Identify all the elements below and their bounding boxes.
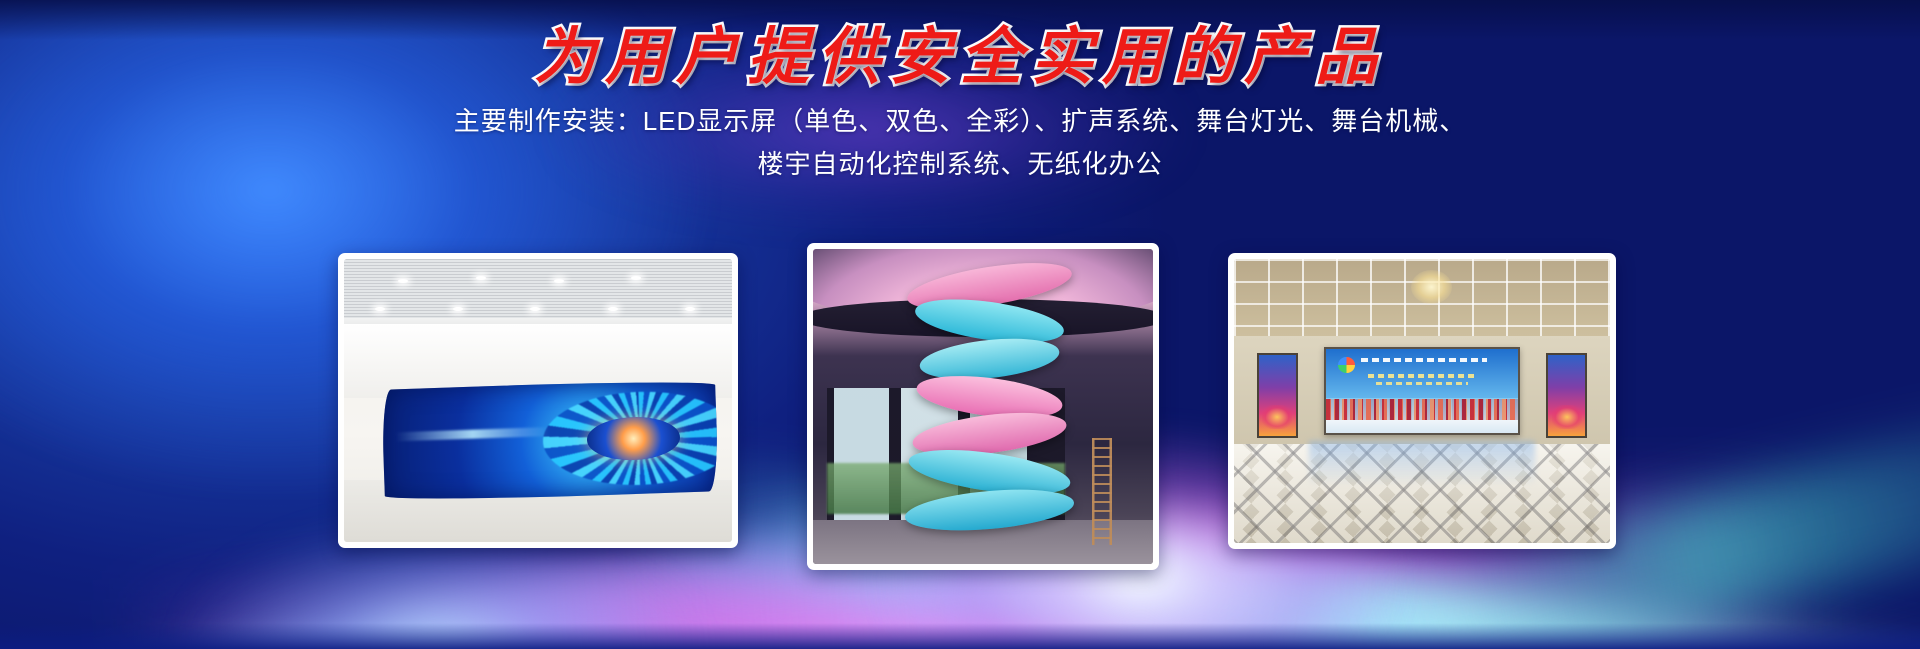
spiral-screen: [908, 262, 1071, 552]
page-title: 为用户提供安全实用的产品: [534, 24, 1386, 89]
photo-gallery: [0, 0, 1920, 649]
eye-shaped-screen: [381, 378, 718, 503]
ceiling-spot-light: [453, 307, 463, 311]
photo-card-eye-display[interactable]: [338, 253, 738, 548]
photo-frame: [344, 259, 732, 542]
ceiling-spot-light: [554, 279, 564, 283]
led-promo-banner: 为用户提供安全实用的产品 主要制作安装：LED显示屏（单色、双色、全彩）、扩声系…: [0, 0, 1920, 649]
subtitle-block: 主要制作安装：LED显示屏（单色、双色、全彩）、扩声系统、舞台灯光、舞台机械、 …: [0, 100, 1920, 186]
main-led-screen: [1324, 347, 1520, 435]
photo-conference-hall-led: [1234, 259, 1610, 543]
screen-subline-2: [1376, 382, 1468, 385]
ceiling-spot-light: [398, 279, 408, 283]
photo-card-conference-hall[interactable]: [1228, 253, 1616, 549]
screen-skyline: [1326, 399, 1518, 421]
screen-highlight: [396, 427, 550, 441]
floor-reflection: [1309, 441, 1535, 486]
side-led-panel-right: [1546, 353, 1587, 438]
title-block: 为用户提供安全实用的产品: [0, 24, 1920, 89]
screen-subline-1: [1368, 374, 1475, 377]
spiral-band: [904, 483, 1076, 535]
photo-card-spiral-display[interactable]: [807, 243, 1159, 570]
screen-footer: [1326, 420, 1518, 433]
ceiling-slats: [344, 259, 732, 324]
screen-headline: [1361, 358, 1487, 362]
ceiling-spot-light: [631, 276, 641, 280]
step-ladder: [1092, 438, 1112, 545]
photo-eye-shaped-led-display: [344, 259, 732, 542]
photo-frame: [1234, 259, 1610, 543]
photo-frame: [813, 249, 1153, 564]
ceiling-spot-light: [476, 276, 486, 280]
subtitle-line-1: 主要制作安装：LED显示屏（单色、双色、全彩）、扩声系统、舞台灯光、舞台机械、: [0, 100, 1920, 143]
subtitle-line-2: 楼宇自动化控制系统、无纸化办公: [0, 143, 1920, 186]
photo-spiral-led-ribbon: [813, 249, 1153, 564]
side-led-panel-left: [1257, 353, 1298, 438]
screen-logo: [1338, 357, 1355, 374]
